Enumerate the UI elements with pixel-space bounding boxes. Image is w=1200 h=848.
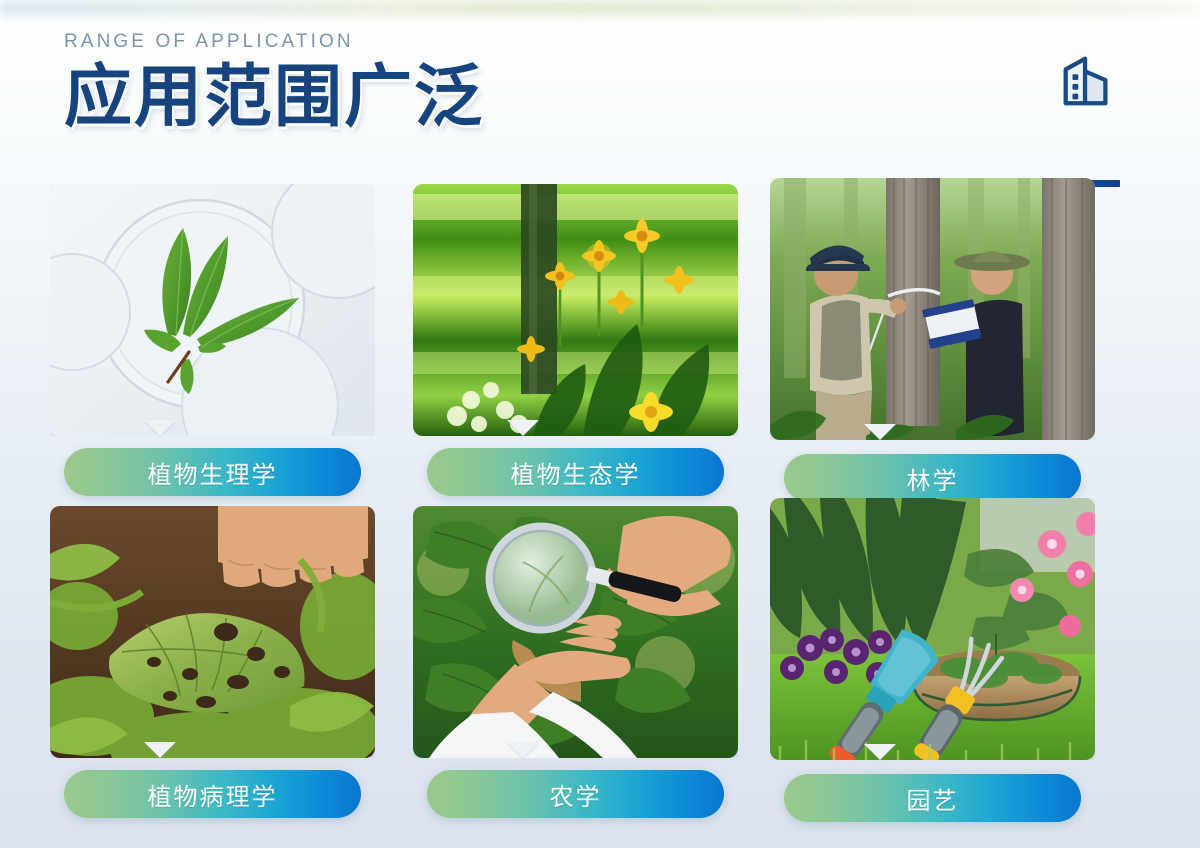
application-card[interactable]: 植物生态学 [413, 184, 738, 436]
card-notch [864, 424, 896, 440]
page-kicker: RANGE OF APPLICATION [64, 32, 1136, 51]
card-label-pill[interactable]: 植物病理学 [64, 770, 361, 818]
card-label-pill[interactable]: 植物生理学 [64, 448, 361, 496]
card-notch [507, 420, 539, 436]
card-label: 园艺 [907, 781, 959, 816]
page-root: RANGE OF APPLICATION 应用范围广泛 [0, 0, 1200, 848]
card-label: 农学 [550, 777, 602, 812]
application-card[interactable]: 植物病理学 [50, 506, 375, 758]
card-label-pill[interactable]: 林学 [784, 454, 1081, 502]
card-label: 植物生态学 [511, 455, 641, 490]
page-title: 应用范围广泛 [64, 63, 1136, 131]
application-card[interactable]: 农学 [413, 506, 738, 758]
card-label-pill[interactable]: 园艺 [784, 774, 1081, 822]
card-image [50, 184, 375, 436]
top-haze-decoration [0, 0, 1200, 16]
application-card-grid: 植物生理学 [0, 178, 1200, 838]
card-label: 林学 [907, 461, 959, 496]
card-label: 植物病理学 [148, 777, 278, 812]
card-label-pill[interactable]: 植物生态学 [427, 448, 724, 496]
card-image [413, 184, 738, 436]
diseased-leaves-scene [50, 506, 375, 758]
card-image [50, 506, 375, 758]
card-image [413, 506, 738, 758]
card-label-pill[interactable]: 农学 [427, 770, 724, 818]
page-header: RANGE OF APPLICATION 应用范围广泛 [64, 32, 1136, 157]
petri-dish-seedling-scene [50, 184, 375, 436]
magnifier-inspection-scene [413, 506, 738, 758]
card-notch [144, 742, 176, 758]
card-label: 植物生理学 [148, 455, 278, 490]
card-notch [864, 744, 896, 760]
card-notch [144, 420, 176, 436]
application-card[interactable]: 林学 [770, 178, 1095, 440]
application-card[interactable]: 植物生理学 [50, 184, 375, 436]
building-icon [1056, 50, 1118, 112]
forest-survey-scene [770, 178, 1095, 440]
card-image [770, 178, 1095, 440]
card-image [770, 498, 1095, 760]
application-card[interactable]: 园艺 [770, 498, 1095, 760]
garden-tools-scene [770, 498, 1095, 760]
meadow-yellow-flowers-scene [413, 184, 738, 436]
card-notch [507, 742, 539, 758]
